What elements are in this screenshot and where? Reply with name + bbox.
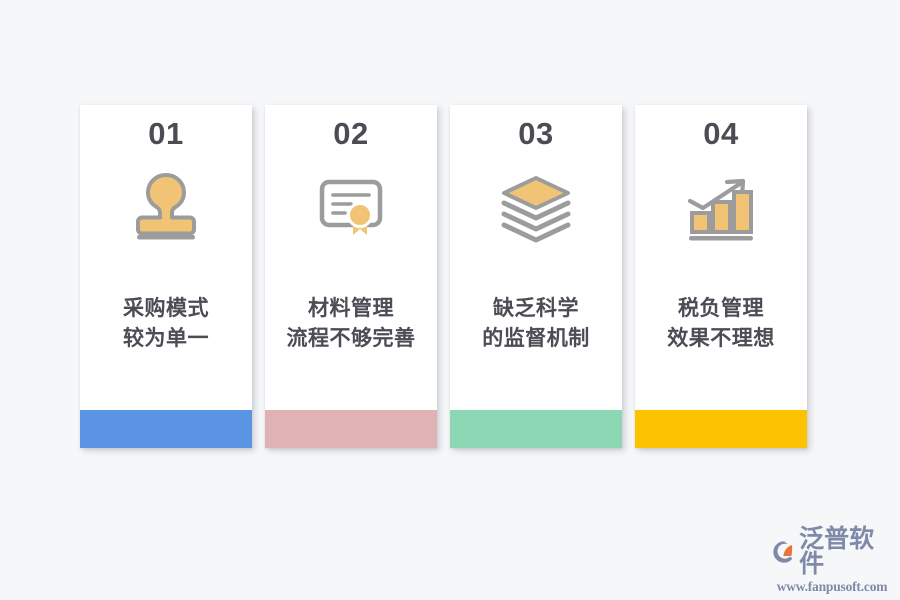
- watermark-brand-name: 泛普软件: [799, 527, 892, 577]
- card-number: 04: [703, 118, 738, 149]
- card-accent-bar: [80, 410, 252, 448]
- fanpusoft-logo-icon: [772, 539, 796, 565]
- card-title: 税负管理 效果不理想: [667, 294, 775, 354]
- card-number: 03: [518, 118, 553, 149]
- bar-chart-growth-icon: [681, 168, 761, 246]
- info-card-03[interactable]: 03 缺乏科学 的监督机制: [450, 105, 622, 448]
- watermark-brand-row: 泛普软件: [772, 527, 892, 577]
- certificate-icon: [311, 168, 391, 246]
- layers-icon: [496, 168, 576, 246]
- card-number: 02: [333, 118, 368, 149]
- card-title: 材料管理 流程不够完善: [287, 294, 416, 354]
- watermark-logo: 泛普软件 www.fanpusoft.com: [772, 532, 892, 588]
- info-card-01[interactable]: 01 采购模式 较为单一: [80, 105, 252, 448]
- stamp-icon: [126, 168, 206, 246]
- info-card-04[interactable]: 04 税负管理 效果不理想: [635, 105, 807, 448]
- card-number: 01: [148, 118, 183, 149]
- watermark-url: www.fanpusoft.com: [777, 580, 888, 594]
- card-accent-bar: [265, 410, 437, 448]
- info-card-02[interactable]: 02 材料管理 流程不够完善: [265, 105, 437, 448]
- info-card-row: 01 采购模式 较为单一 02: [80, 105, 809, 448]
- card-title: 缺乏科学 的监督机制: [482, 294, 590, 354]
- card-accent-bar: [635, 410, 807, 448]
- card-title: 采购模式 较为单一: [123, 294, 209, 354]
- card-accent-bar: [450, 410, 622, 448]
